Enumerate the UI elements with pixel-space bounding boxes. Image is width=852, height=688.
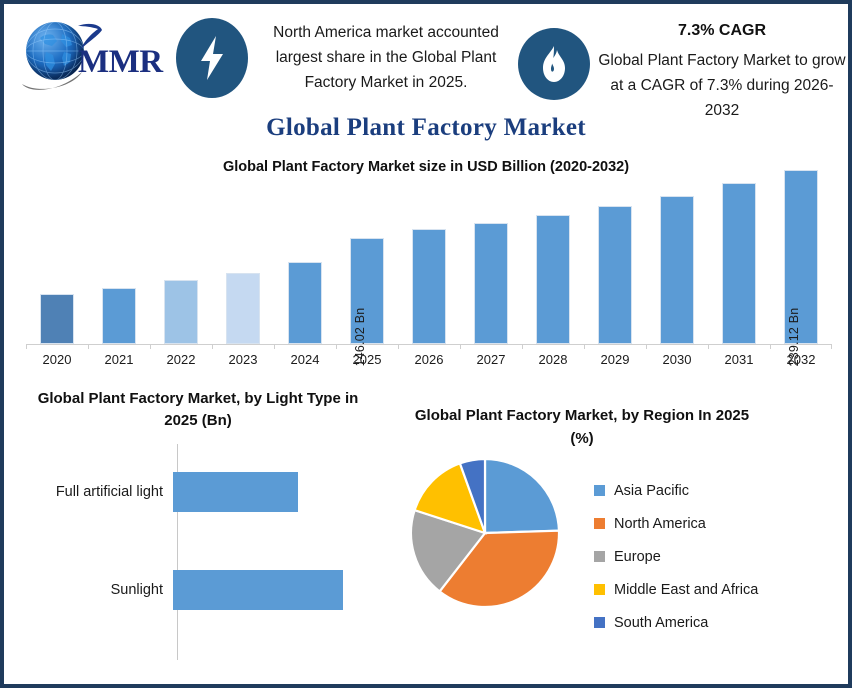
legend-swatch [594, 617, 605, 628]
bar-2025: 146.02 Bn [350, 238, 384, 344]
bar-column [26, 176, 88, 344]
mmr-logo: MMR [16, 14, 176, 94]
x-axis-label: 2022 [150, 352, 212, 367]
bar-column [150, 176, 212, 344]
pie-legend: Asia PacificNorth AmericaEuropeMiddle Ea… [594, 474, 834, 639]
region-pie-chart: Global Plant Factory Market, by Region I… [382, 404, 842, 674]
x-axis-tick [584, 344, 585, 349]
bar-2029 [598, 206, 632, 344]
flame-icon [518, 28, 590, 100]
cagr-headline: 7.3% CAGR [596, 22, 848, 40]
bar-column [212, 176, 274, 344]
light-type-bar-chart: Global Plant Factory Market, by Light Ty… [18, 388, 378, 668]
x-axis-label: 2025 [336, 352, 398, 367]
legend-item: South America [594, 606, 834, 639]
infographic-page: MMR North America market accounted large… [0, 0, 852, 688]
light-type-bar [173, 570, 343, 610]
bar-2026 [412, 229, 446, 344]
light-type-row: Sunlight [18, 568, 378, 612]
legend-item: Europe [594, 540, 834, 573]
x-axis-tick [212, 344, 213, 349]
legend-item: Asia Pacific [594, 474, 834, 507]
bar-2023 [226, 273, 260, 344]
light-type-row: Full artificial light [18, 470, 378, 514]
main-chart-title: Global Plant Factory Market size in USD … [4, 159, 848, 175]
light-type-label: Sunlight [18, 582, 173, 598]
bar-column: 239.12 Bn [770, 176, 832, 344]
light-type-bar [173, 472, 298, 512]
x-axis-label: 2031 [708, 352, 770, 367]
bar-2022 [164, 280, 198, 344]
bar-2020 [40, 294, 74, 344]
x-axis-tick [770, 344, 771, 349]
logo-wordmark: MMR [78, 44, 163, 81]
x-axis-label: 2020 [26, 352, 88, 367]
bar-2027 [474, 223, 508, 344]
lightning-bolt-icon [176, 18, 248, 98]
bar-column [398, 176, 460, 344]
bar-plot-area: 146.02 Bn239.12 Bn [26, 176, 832, 344]
bar-column [708, 176, 770, 344]
x-axis-label: 2023 [212, 352, 274, 367]
x-axis-tick [274, 344, 275, 349]
bar-column: 146.02 Bn [336, 176, 398, 344]
x-axis-label: 2030 [646, 352, 708, 367]
legend-swatch [594, 518, 605, 529]
x-axis-line [26, 344, 832, 345]
x-axis-label: 2028 [522, 352, 584, 367]
x-axis-tick [522, 344, 523, 349]
light-type-chart-title: Global Plant Factory Market, by Light Ty… [28, 388, 368, 432]
region-chart-title: Global Plant Factory Market, by Region I… [402, 404, 762, 450]
light-type-label: Full artificial light [18, 484, 173, 500]
x-axis-tick [26, 344, 27, 349]
x-axis-tick [708, 344, 709, 349]
x-axis-tick [398, 344, 399, 349]
x-axis-label: 2029 [584, 352, 646, 367]
x-axis-tick [646, 344, 647, 349]
bar-column [460, 176, 522, 344]
x-axis-tick [831, 344, 832, 349]
bar-2028 [536, 215, 570, 344]
legend-swatch [594, 485, 605, 496]
pie-graphic [410, 458, 560, 608]
legend-item: Middle East and Africa [594, 573, 834, 606]
bar-2024 [288, 262, 322, 344]
bar-column [88, 176, 150, 344]
legend-swatch [594, 551, 605, 562]
x-axis-tick [150, 344, 151, 349]
bar-2021 [102, 288, 136, 344]
market-size-bar-chart: 146.02 Bn239.12 Bn 202020212022202320242… [26, 176, 832, 361]
x-axis-tick [88, 344, 89, 349]
bar-column [522, 176, 584, 344]
x-axis-tick [460, 344, 461, 349]
bar-2031 [722, 183, 756, 344]
x-axis-label: 2024 [274, 352, 336, 367]
header-band: MMR North America market accounted large… [4, 4, 848, 114]
header-callout-right: Global Plant Factory Market to grow at a… [596, 48, 848, 123]
bar-column [274, 176, 336, 344]
pie-slice-asia-pacific [485, 459, 559, 533]
bar-column [646, 176, 708, 344]
bar-column [584, 176, 646, 344]
x-axis-label: 2032 [770, 352, 832, 367]
x-axis-label: 2026 [398, 352, 460, 367]
bar-2030 [660, 196, 694, 344]
header-callout-left: North America market accounted largest s… [252, 20, 520, 95]
x-axis-label: 2021 [88, 352, 150, 367]
legend-item: North America [594, 507, 834, 540]
legend-label: South America [614, 615, 708, 631]
bar-2032: 239.12 Bn [784, 170, 818, 344]
x-axis-tick [336, 344, 337, 349]
legend-label: Europe [614, 549, 661, 565]
legend-label: Middle East and Africa [614, 582, 758, 598]
page-title: Global Plant Factory Market [4, 114, 848, 142]
x-axis-label: 2027 [460, 352, 522, 367]
legend-label: North America [614, 516, 706, 532]
legend-label: Asia Pacific [614, 483, 689, 499]
legend-swatch [594, 584, 605, 595]
